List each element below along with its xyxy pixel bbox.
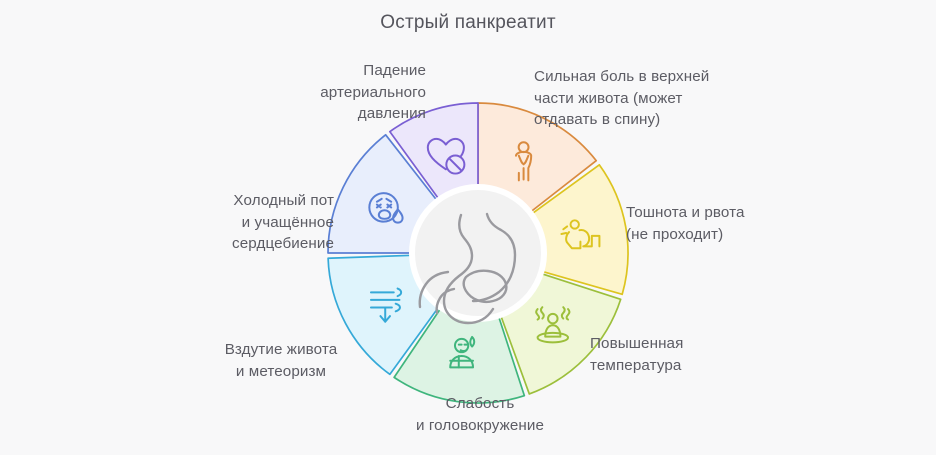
petal-weakness[interactable] bbox=[394, 308, 524, 403]
page-title: Острый панкреатит bbox=[0, 12, 936, 34]
vomiting-person-icon bbox=[561, 220, 599, 248]
label-pain: Сильная боль в верхней части живота (мож… bbox=[534, 66, 784, 131]
heart-blocked-icon bbox=[428, 139, 465, 174]
petal-sweat[interactable] bbox=[328, 135, 437, 253]
dizzy-weak-person-icon bbox=[450, 337, 474, 367]
abdominal-pain-person-icon bbox=[516, 142, 531, 180]
center-hub bbox=[412, 187, 544, 323]
bloating-gas-arrows-icon bbox=[371, 289, 401, 322]
label-bloating: Вздутие живота и метеоризм bbox=[186, 339, 376, 382]
label-sweat: Холодный пот и учащённое сердцебиение bbox=[162, 190, 334, 255]
infographic-canvas: Острый панкреатит bbox=[0, 0, 936, 455]
stomach-icon bbox=[420, 214, 515, 323]
label-nausea: Тошнота и рвота (не проходит) bbox=[626, 202, 836, 245]
label-pressure: Падение артериального давления bbox=[222, 60, 426, 125]
cold-sweat-face-icon bbox=[369, 193, 402, 222]
center-circle bbox=[412, 187, 544, 319]
fever-heat-person-icon bbox=[536, 307, 569, 342]
petal-icon-group bbox=[369, 139, 599, 367]
label-weakness: Слабость и головокружение bbox=[370, 393, 590, 436]
petal-nausea[interactable] bbox=[531, 165, 628, 295]
label-fever: Повышенная температура bbox=[590, 333, 790, 376]
